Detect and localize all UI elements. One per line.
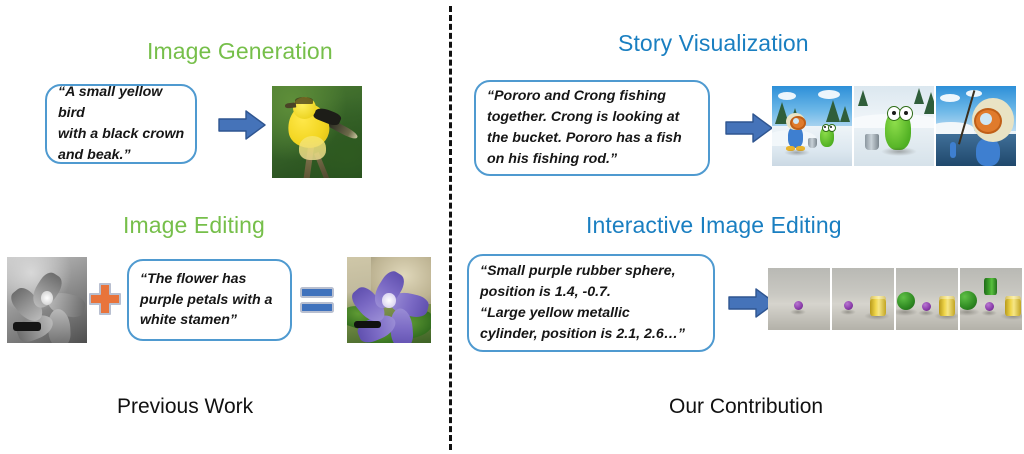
- output-image-story-frames: [772, 86, 1016, 166]
- prompt-bubble-story-visualization[interactable]: “Pororo and Crong fishing together. Cron…: [474, 80, 710, 176]
- story-frame: [772, 86, 852, 166]
- clevr-frame: [832, 268, 894, 330]
- output-image-bird: [272, 86, 362, 178]
- arrow-icon-story-visualization: [725, 112, 773, 149]
- story-frame: [936, 86, 1016, 166]
- heading-image-editing: Image Editing: [123, 212, 265, 239]
- heading-image-generation: Image Generation: [147, 38, 333, 65]
- prompt-bubble-interactive-image-editing[interactable]: “Small purple rubber sphere, position is…: [467, 254, 715, 352]
- heading-story-visualization: Story Visualization: [618, 30, 809, 57]
- output-image-clevr-frames: [768, 268, 1022, 330]
- prompt-bubble-image-generation[interactable]: “A small yellow bird with a black crown …: [45, 84, 197, 164]
- output-image-purple-flower: [347, 257, 431, 343]
- figure-root: Image Generation “A small yellow bird wi…: [0, 0, 1024, 454]
- story-frame: [854, 86, 934, 166]
- input-image-gray-flower: [7, 257, 87, 343]
- column-divider: [449, 6, 452, 450]
- clevr-frame: [960, 268, 1022, 330]
- prompt-text-story-visualization: “Pororo and Crong fishing together. Cron…: [487, 86, 682, 170]
- arrow-icon-image-generation: [218, 109, 266, 146]
- plus-icon-image-editing: [88, 282, 122, 321]
- prompt-bubble-image-editing[interactable]: “The flower has purple petals with a whi…: [127, 259, 292, 341]
- clevr-frame: [768, 268, 830, 330]
- prompt-text-interactive-image-editing: “Small purple rubber sphere, position is…: [480, 261, 685, 345]
- caption-previous-work: Previous Work: [117, 395, 253, 419]
- prompt-text-image-editing: “The flower has purple petals with a whi…: [140, 269, 272, 332]
- caption-our-contribution: Our Contribution: [669, 395, 823, 419]
- heading-interactive-image-editing: Interactive Image Editing: [586, 212, 842, 239]
- prompt-text-image-generation: “A small yellow bird with a black crown …: [58, 82, 186, 166]
- equals-icon-image-editing: [299, 284, 335, 321]
- clevr-frame: [896, 268, 958, 330]
